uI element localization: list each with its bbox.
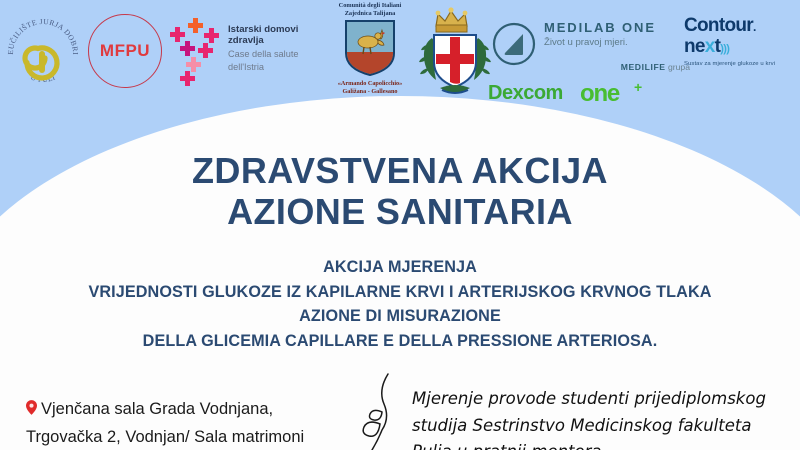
decorative-swirl-divider <box>358 372 418 450</box>
crown-shield-laurel-icon <box>418 4 492 100</box>
contour-tagline: Sustav za mjerenje glukoze u krvi <box>684 61 796 67</box>
venue-text-1: Vjenčana sala Grada Vodnjana, <box>41 400 273 418</box>
idz-subtitle-line2: dell'Istria <box>228 62 314 73</box>
medilab-title: MEDILAB ONE <box>544 20 686 35</box>
leaf-circle-icon <box>492 22 536 66</box>
medilab-tagline: Život u pravoj mjeri. <box>544 37 686 48</box>
rooster-shield-icon <box>344 19 396 77</box>
headline-line-hr: ZDRAVSTVENA AKCIJA <box>0 150 800 191</box>
students-line-3: Pulja u pratnji mentora <box>412 439 800 450</box>
subhead-line-3: AZIONE DI MISURAZIONE <box>0 304 800 329</box>
university-of-pula-logo: SVEUČILIŠTE JURJA DOBRILE U PULI <box>4 4 82 96</box>
medilife-bold: MEDILIFE <box>621 62 666 72</box>
mfpu-logo: MFPU <box>86 12 164 90</box>
contour-wordmark: Contour. <box>684 16 796 37</box>
cross-cluster-icon <box>166 16 228 88</box>
medilife-group-label: MEDILIFE grupa <box>580 62 690 72</box>
dexcom-one-mark: one <box>580 80 619 108</box>
contour-next-logo: Contour. next))) Sustav za mjerenje gluk… <box>684 16 796 84</box>
venue-line-1: Vjenčana sala Grada Vodnjana, <box>26 396 376 424</box>
subhead-line-4: DELLA GLICEMIA CAPILLARE E DELLA PRESSIO… <box>0 329 800 354</box>
students-line-1: Mjerenje provode studenti prijediplomsko… <box>412 386 800 413</box>
idz-title-line2: zdravlja <box>228 35 314 46</box>
students-line-2: studija Sestrinstvo Medicinskog fakultet… <box>412 413 800 440</box>
cdi-bottom-line1: «Armando Capolicchio» <box>318 80 422 88</box>
map-pin-icon <box>26 397 37 424</box>
next-wordmark: next))) <box>684 37 796 59</box>
cdi-top-line1: Comunità degli Italiani <box>318 2 422 10</box>
next-ne: ne <box>684 36 705 57</box>
cdi-top-line2: Zajednica Talijana <box>318 10 422 18</box>
contour-dot: . <box>753 20 756 34</box>
poster-headline: ZDRAVSTVENA AKCIJA AZIONE SANITARIA <box>0 150 800 232</box>
venue-line-2: Trgovačka 2, Vodnjan/ Sala matrimoni <box>26 424 376 450</box>
venue-block: Vjenčana sala Grada Vodnjana, Trgovačka … <box>26 396 376 450</box>
dexcom-plus-mark: + <box>634 79 642 95</box>
sponsor-logo-bar: SVEUČILIŠTE JURJA DOBRILE U PULI MFPU <box>0 0 800 112</box>
subhead-line-2: VRIJEDNOSTI GLUKOZE IZ KAPILARNE KRVI I … <box>0 280 800 305</box>
idz-title-line1: Istarski domovi <box>228 24 314 35</box>
dexcom-one-plus-logo: Dexcom one + <box>488 80 646 110</box>
contour-word: Contour <box>684 15 753 36</box>
spiral-icon: SVEUČILIŠTE JURJA DOBRILE U PULI <box>4 4 82 96</box>
poster-canvas: SVEUČILIŠTE JURJA DOBRILE U PULI MFPU <box>0 0 800 450</box>
cdi-bottom-line2: Galižana - Gallesano <box>318 88 422 96</box>
idz-subtitle-line1: Case della salute <box>228 49 314 60</box>
subhead-line-1: AKCIJA MJERENJA <box>0 255 800 280</box>
students-note-block: Mjerenje provode studenti prijediplomsko… <box>412 386 800 450</box>
poster-subheadline: AKCIJA MJERENJA VRIJEDNOSTI GLUKOZE IZ K… <box>0 255 800 353</box>
signal-wave-icon: ))) <box>720 43 729 55</box>
next-x: x <box>705 36 715 57</box>
headline-line-it: AZIONE SANITARIA <box>0 191 800 232</box>
vodnjan-coat-of-arms <box>418 4 492 100</box>
dexcom-wordmark: Dexcom <box>488 82 563 105</box>
istarski-domovi-zdravlja-logo: Istarski domovi zdravlja Case della salu… <box>166 14 312 94</box>
medilab-one-logo: MEDILAB ONE Život u pravoj mjeri. MEDILI… <box>492 18 684 80</box>
comunita-degli-italiani-logo: Comunità degli Italiani Zajednica Talija… <box>318 2 422 106</box>
mfpu-label: MFPU <box>86 12 164 90</box>
